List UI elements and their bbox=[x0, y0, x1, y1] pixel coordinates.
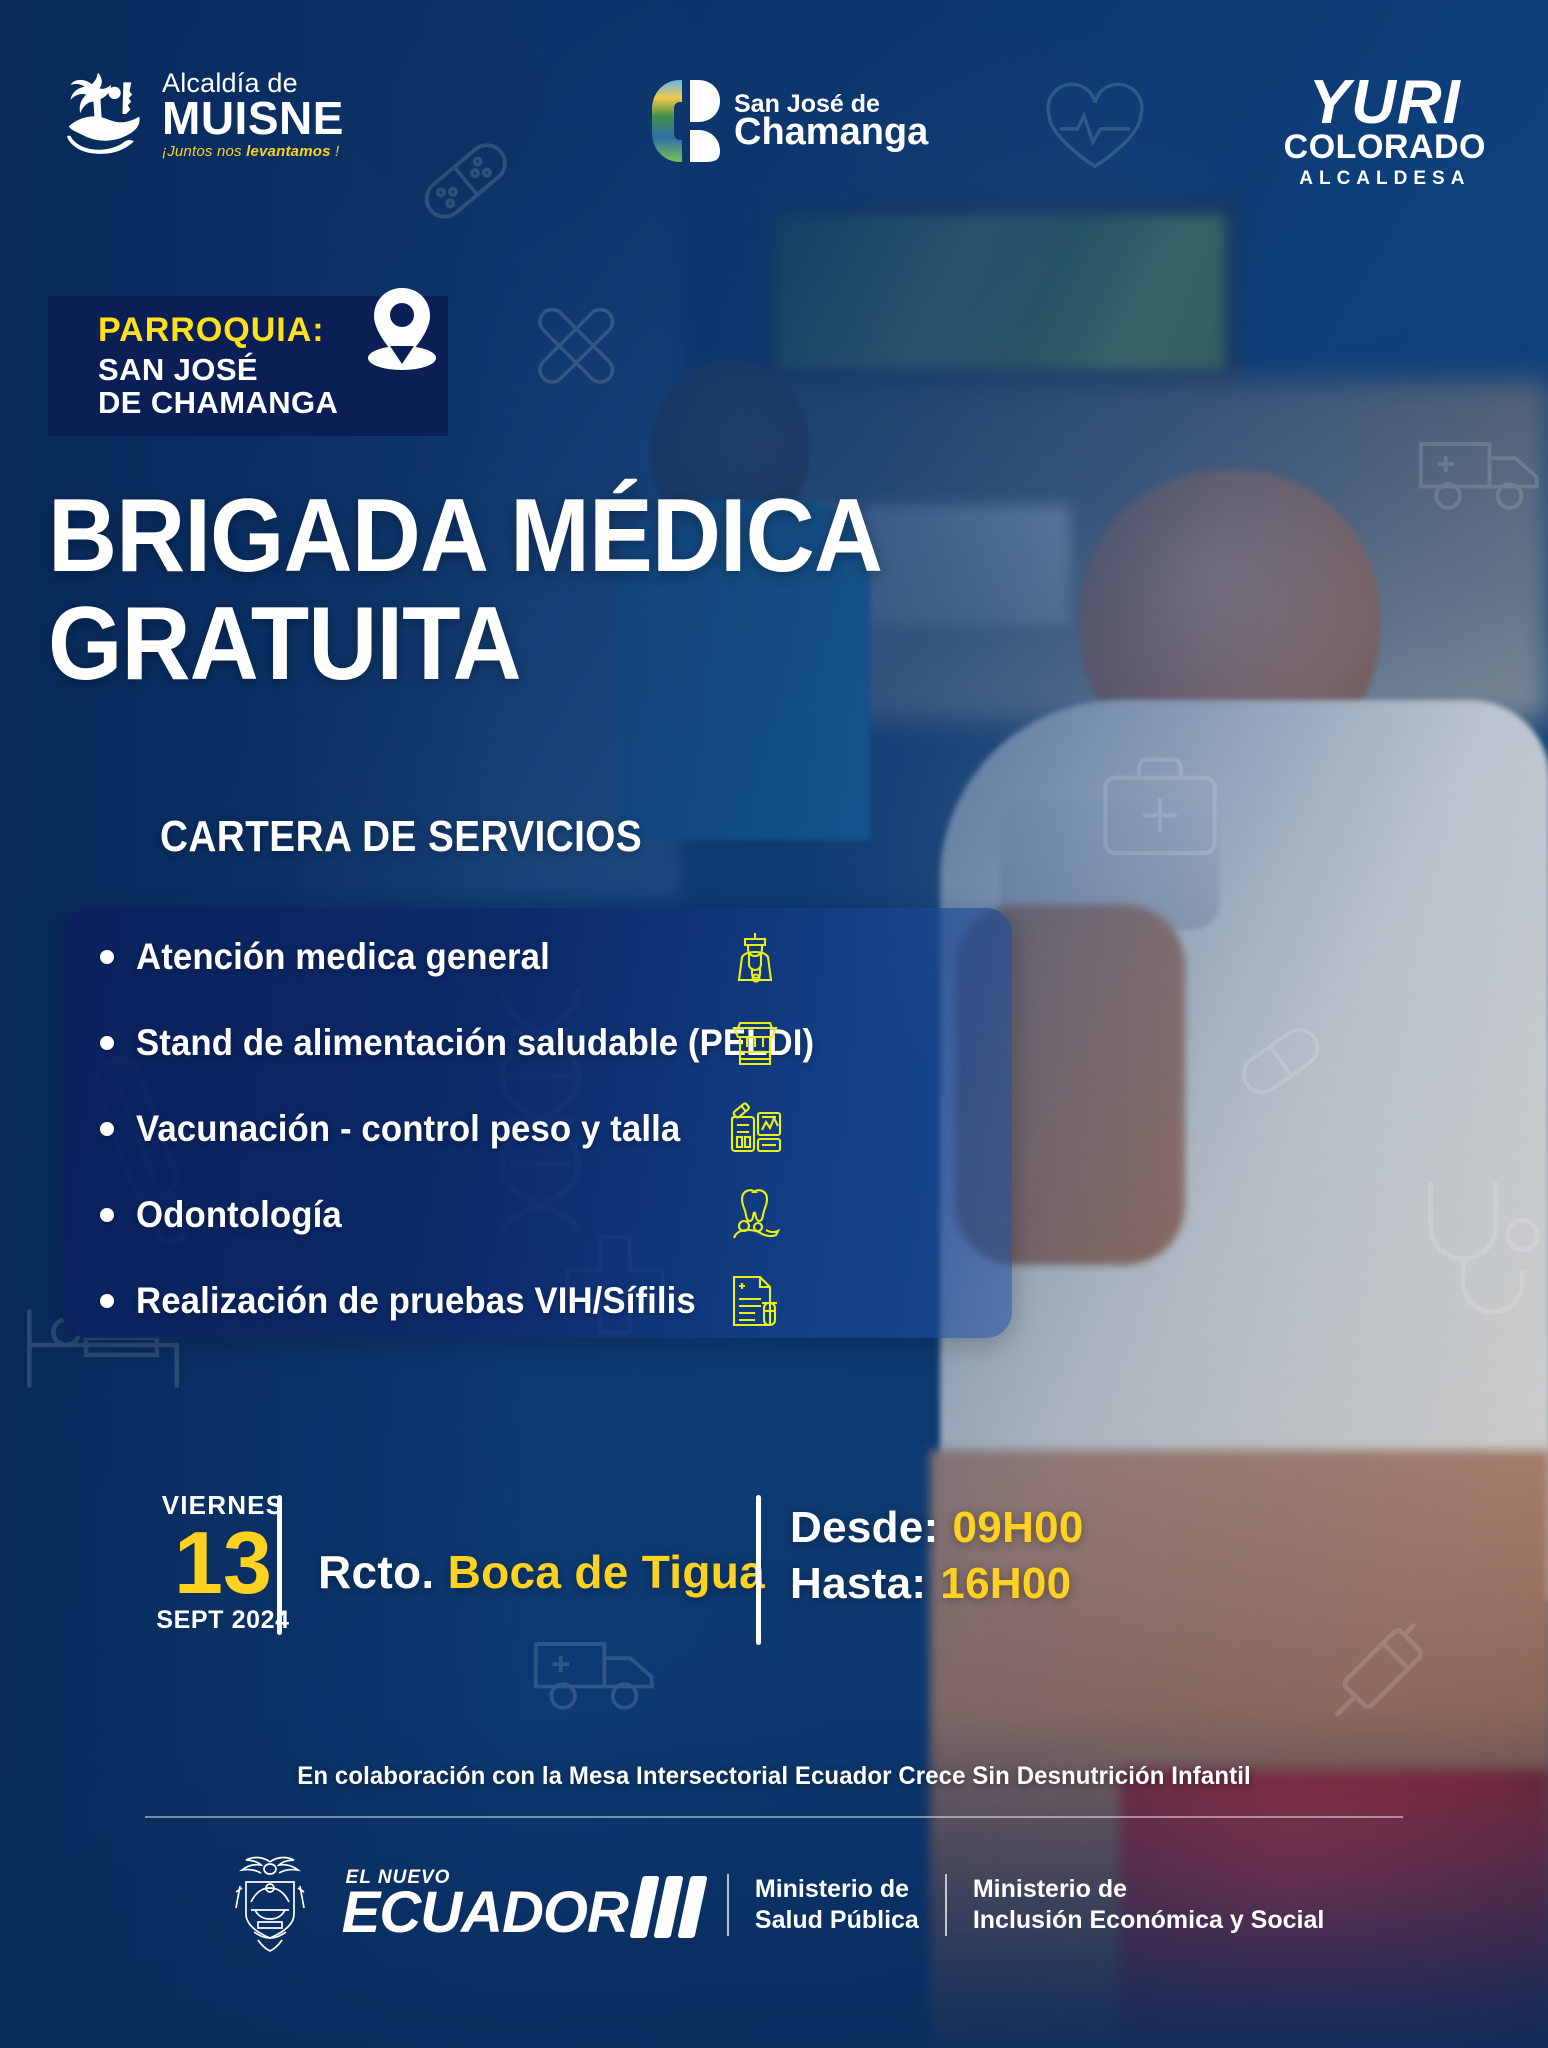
service-label-2: Vacunación - control peso y talla bbox=[136, 1108, 680, 1150]
footer-logos: EL NUEVO ECUADOR Ministerio de Salud Púb… bbox=[0, 1852, 1548, 1958]
market-stand-icon bbox=[728, 1016, 782, 1070]
ambulance-decor-icon bbox=[1415, 420, 1545, 520]
service-row-1: Stand de alimentación saludable (PELDI) bbox=[62, 1000, 1012, 1086]
ministry-inclusion-line2: Inclusión Económica y Social bbox=[973, 1905, 1325, 1936]
location-pin-icon bbox=[360, 286, 444, 382]
service-row-2: Vacunación - control peso y talla bbox=[62, 1086, 1012, 1172]
event-from-value: 09H00 bbox=[953, 1503, 1084, 1552]
service-label-0: Atención medica general bbox=[136, 936, 550, 978]
parish-label: PARROQUIA: bbox=[98, 312, 338, 348]
bullet-icon bbox=[100, 950, 114, 964]
divider-right bbox=[756, 1495, 761, 1645]
event-hours-to: Hasta:16H00 bbox=[790, 1556, 1084, 1612]
chamanga-parish-logo: San José de Chamanga bbox=[650, 78, 928, 164]
pill-capsule-decor-icon bbox=[1220, 1000, 1340, 1120]
event-place-prefix: Rcto. bbox=[318, 1546, 435, 1598]
mayor-name-first: YURI bbox=[1284, 72, 1486, 134]
service-label-3: Odontología bbox=[136, 1194, 342, 1236]
event-to-label: Hasta: bbox=[790, 1559, 926, 1608]
bandage-cross-decor-icon bbox=[522, 290, 632, 400]
bullet-icon bbox=[100, 1036, 114, 1050]
event-from-label: Desde: bbox=[790, 1503, 939, 1552]
lab-report-test-tube-icon bbox=[728, 1273, 782, 1329]
muisne-logo-tagline: ¡Juntos nos levantamos ! bbox=[162, 144, 344, 159]
service-row-4: Realización de pruebas VIH/Sífilis bbox=[62, 1258, 1012, 1344]
event-hours-from: Desde:09H00 bbox=[790, 1500, 1084, 1556]
stethoscope-decor-icon bbox=[1400, 1170, 1548, 1340]
ecuador-bars-icon bbox=[636, 1876, 701, 1938]
chamanga-logo-line2: Chamanga bbox=[734, 113, 928, 151]
event-month-year: SEPT 2024 bbox=[148, 1606, 298, 1635]
ecuador-coat-of-arms-icon bbox=[224, 1852, 316, 1958]
service-label-4: Realización de pruebas VIH/Sífilis bbox=[136, 1280, 696, 1322]
first-aid-kit-decor-icon bbox=[1095, 745, 1225, 865]
ecuador-logo-line2: ECUADOR bbox=[342, 1884, 628, 1942]
event-hours: Desde:09H00 Hasta:16H00 bbox=[790, 1500, 1084, 1613]
event-to-value: 16H00 bbox=[940, 1559, 1071, 1608]
syringe-decor-icon bbox=[1310, 1600, 1460, 1750]
footer-divider bbox=[145, 1816, 1403, 1818]
service-row-3: Odontología bbox=[62, 1172, 1012, 1258]
doctor-stethoscope-icon bbox=[728, 928, 782, 986]
parish-name-line2: DE CHAMANGA bbox=[98, 387, 338, 420]
muisne-municipality-logo: Alcaldía de MUISNE ¡Juntos nos levantamo… bbox=[60, 68, 344, 160]
divider-left bbox=[277, 1495, 282, 1635]
tooth-care-hand-icon bbox=[728, 1188, 782, 1242]
bullet-icon bbox=[100, 1122, 114, 1136]
ministry-separator-2 bbox=[945, 1874, 947, 1936]
header: Alcaldía de MUISNE ¡Juntos nos levantamo… bbox=[0, 0, 1548, 210]
poster-root: Alcaldía de MUISNE ¡Juntos nos levantamo… bbox=[0, 0, 1548, 2048]
ministry-inclusion-line1: Ministerio de bbox=[973, 1874, 1325, 1905]
service-label-1: Stand de alimentación saludable (PELDI) bbox=[136, 1022, 814, 1064]
mayor-name-last: COLORADO bbox=[1284, 130, 1486, 164]
event-place-name: Boca de Tigua bbox=[448, 1546, 765, 1598]
title-line2: GRATUITA bbox=[48, 594, 882, 696]
ministry-inclusion: Ministerio de Inclusión Económica y Soci… bbox=[973, 1874, 1325, 1937]
ministry-health-line1: Ministerio de bbox=[755, 1874, 919, 1905]
ministry-health: Ministerio de Salud Pública bbox=[755, 1874, 919, 1937]
services-card: Atención medica general Stand de aliment… bbox=[62, 908, 1012, 1338]
bullet-icon bbox=[100, 1294, 114, 1308]
event-day-number: 13 bbox=[148, 1523, 298, 1604]
title-line1: BRIGADA MÉDICA bbox=[48, 478, 882, 594]
collaboration-text: En colaboración con la Mesa Intersectori… bbox=[31, 1762, 1517, 1791]
bullet-icon bbox=[100, 1208, 114, 1222]
mayor-role: ALCALDESA bbox=[1284, 169, 1486, 188]
chamanga-c-monogram-landscape-icon bbox=[650, 78, 722, 164]
event-date-block: VIERNES 13 SEPT 2024 bbox=[148, 1490, 298, 1635]
services-subtitle: CARTERA DE SERVICIOS bbox=[160, 812, 642, 862]
service-row-0: Atención medica general bbox=[62, 914, 1012, 1000]
ambulance-van-decor-icon bbox=[530, 1620, 660, 1720]
palm-tree-island-hands-logo-icon bbox=[60, 68, 148, 160]
mayor-yuri-colorado-logo: YURI COLORADO ALCALDESA bbox=[1284, 72, 1486, 188]
muisne-logo-line2: MUISNE bbox=[162, 95, 344, 141]
event-place: Rcto. Boca de Tigua bbox=[318, 1545, 765, 1599]
ministry-separator-1 bbox=[727, 1874, 729, 1936]
ministry-health-line2: Salud Pública bbox=[755, 1905, 919, 1936]
vaccine-scale-chart-icon bbox=[728, 1101, 782, 1157]
parish-name-line1: SAN JOSÉ bbox=[98, 354, 338, 387]
page-title: BRIGADA MÉDICA GRATUITA bbox=[48, 486, 882, 696]
